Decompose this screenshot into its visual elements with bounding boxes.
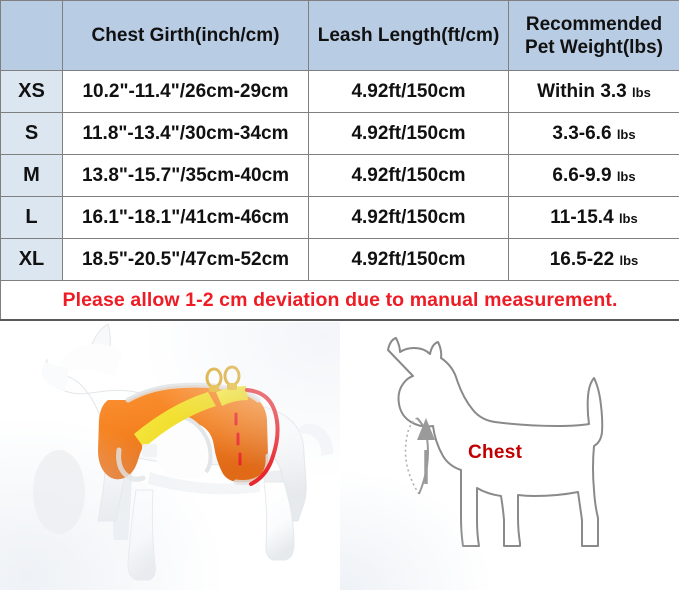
measurement-note-row: Please allow 1-2 cm deviation due to man… [1, 281, 679, 321]
cell-leash-length: 4.92ft/150cm [309, 239, 509, 281]
cell-pet-weight: 6.6-9.9 lbs [509, 155, 679, 197]
table-header-row: Chest Girth(inch/cm) Leash Length(ft/cm)… [1, 1, 679, 71]
illustration-area: Chest [0, 322, 679, 590]
weight-unit: lbs [617, 169, 636, 184]
cell-pet-weight: 3.3-6.6 lbs [509, 113, 679, 155]
cell-chest-girth: 11.8"-13.4"/30cm-34cm [63, 113, 309, 155]
cell-chest-girth: 16.1"-18.1"/41cm-46cm [63, 197, 309, 239]
column-header-size [1, 1, 63, 71]
weight-value: 11-15.4 [550, 207, 613, 228]
cell-chest-girth: 10.2"-11.4"/26cm-29cm [63, 71, 309, 113]
chest-measurement-diagram: Chest [340, 322, 679, 590]
cell-size: M [1, 155, 63, 197]
table-row: M 13.8"-15.7"/35cm-40cm 4.92ft/150cm 6.6… [1, 155, 679, 197]
cell-pet-weight: 16.5-22 lbs [509, 239, 679, 281]
weight-unit: lbs [619, 253, 638, 268]
cell-leash-length: 4.92ft/150cm [309, 113, 509, 155]
column-header-pet-weight-line1: Recommended [509, 13, 679, 36]
weight-value: 6.6-9.9 [552, 165, 611, 186]
cell-leash-length: 4.92ft/150cm [309, 155, 509, 197]
cell-pet-weight: 11-15.4 lbs [509, 197, 679, 239]
weight-unit: lbs [619, 211, 638, 226]
cell-leash-length: 4.92ft/150cm [309, 197, 509, 239]
measurement-note-text: Please allow 1-2 cm deviation due to man… [62, 289, 617, 311]
table-row: XL 18.5"-20.5"/47cm-52cm 4.92ft/150cm 16… [1, 239, 679, 281]
table-header: Chest Girth(inch/cm) Leash Length(ft/cm)… [1, 1, 679, 71]
cell-pet-weight: Within 3.3 lbs [509, 71, 679, 113]
cell-chest-girth: 13.8"-15.7"/35cm-40cm [63, 155, 309, 197]
brand-tag [142, 444, 157, 457]
chest-girth-loop [406, 418, 436, 494]
chest-label: Chest [468, 442, 522, 464]
weight-value: 16.5-22 [550, 249, 614, 270]
floor-shadow [33, 450, 85, 534]
measurement-note-cell: Please allow 1-2 cm deviation due to man… [1, 281, 679, 321]
cell-size: XS [1, 71, 63, 113]
column-header-pet-weight-line2: Pet Weight(lbs) [509, 36, 679, 59]
table-body: XS 10.2"-11.4"/26cm-29cm 4.92ft/150cm Wi… [1, 71, 679, 321]
cell-size: S [1, 113, 63, 155]
cell-leash-length: 4.92ft/150cm [309, 71, 509, 113]
weight-unit: lbs [617, 127, 636, 142]
table-row: L 16.1"-18.1"/41cm-46cm 4.92ft/150cm 11-… [1, 197, 679, 239]
column-header-pet-weight: Recommended Pet Weight(lbs) [509, 1, 679, 71]
cell-chest-girth: 18.5"-20.5"/47cm-52cm [63, 239, 309, 281]
harness-product-photo [0, 322, 340, 590]
weight-value: Within 3.3 [537, 81, 627, 102]
weight-unit: lbs [632, 85, 651, 100]
size-chart-table-container: Chest Girth(inch/cm) Leash Length(ft/cm)… [0, 0, 679, 321]
weight-value: 3.3-6.6 [552, 123, 611, 144]
dog-mannequin-illustration [0, 322, 340, 590]
cell-size: L [1, 197, 63, 239]
size-chart-table: Chest Girth(inch/cm) Leash Length(ft/cm)… [0, 0, 679, 321]
table-row: XS 10.2"-11.4"/26cm-29cm 4.92ft/150cm Wi… [1, 71, 679, 113]
orange-harness [98, 367, 278, 484]
cell-size: XL [1, 239, 63, 281]
column-header-chest-girth: Chest Girth(inch/cm) [63, 1, 309, 71]
table-row: S 11.8"-13.4"/30cm-34cm 4.92ft/150cm 3.3… [1, 113, 679, 155]
column-header-leash-length: Leash Length(ft/cm) [309, 1, 509, 71]
